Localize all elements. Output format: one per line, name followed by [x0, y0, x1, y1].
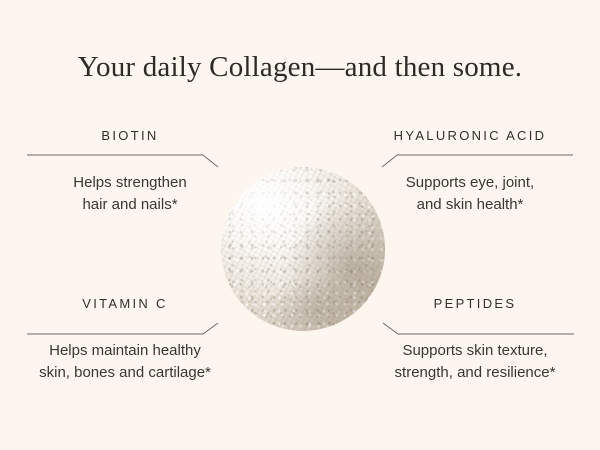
product-benefits-poster: Your daily Collagen—and then some. BIOTI… [0, 0, 600, 450]
ingredient-desc-line: Supports skin texture, [350, 340, 600, 362]
divider-pointer-icon [350, 319, 600, 335]
powder-mound [221, 167, 385, 331]
ingredient-desc-line: Helps strengthen [5, 172, 255, 194]
ingredient-block-vitamin-c: VITAMIN C Helps maintain healthy skin, b… [0, 296, 250, 384]
divider-pointer-icon [5, 151, 255, 167]
divider-vitamin-c [0, 319, 250, 335]
powder-grain-texture [221, 167, 385, 331]
ingredient-desc-line: strength, and resilience* [350, 362, 600, 384]
ingredient-block-peptides: PEPTIDES Supports skin texture, strength… [350, 296, 600, 384]
ingredient-name-vitamin-c: VITAMIN C [0, 296, 250, 312]
ingredient-desc-line: Helps maintain healthy [0, 340, 250, 362]
ingredient-name-peptides: PEPTIDES [350, 296, 600, 312]
ingredient-desc-peptides: Supports skin texture, strength, and res… [350, 340, 600, 384]
divider-hyaluronic-acid [345, 151, 595, 167]
divider-pointer-icon [345, 151, 595, 167]
ingredient-desc-line: skin, bones and cartilage* [0, 362, 250, 384]
divider-biotin [5, 151, 255, 167]
ingredient-desc-vitamin-c: Helps maintain healthy skin, bones and c… [0, 340, 250, 384]
collagen-powder-image [221, 167, 385, 331]
ingredient-block-biotin: BIOTIN Helps strengthen hair and nails* [5, 128, 255, 216]
divider-peptides [350, 319, 600, 335]
page-title: Your daily Collagen—and then some. [0, 50, 600, 84]
ingredient-name-hyaluronic-acid: HYALURONIC ACID [345, 128, 595, 144]
ingredient-name-biotin: BIOTIN [5, 128, 255, 144]
ingredient-desc-biotin: Helps strengthen hair and nails* [5, 172, 255, 216]
divider-pointer-icon [0, 319, 250, 335]
ingredient-desc-line: hair and nails* [5, 194, 255, 216]
